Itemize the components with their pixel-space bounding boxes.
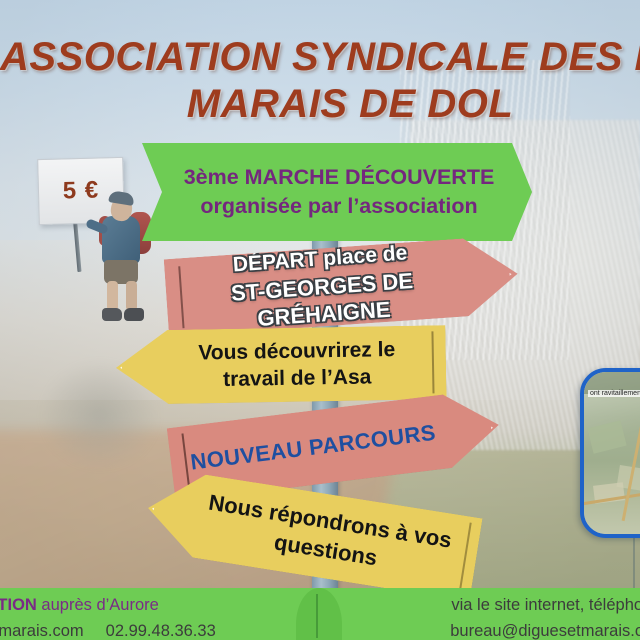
hiker-boot-right [124,308,144,321]
hiker-torso [102,216,140,264]
hiker-figure: 5 € [14,150,154,285]
hiker-leg-right [126,281,137,311]
green-banner-line-1: 3ème MARCHE DÉCOUVERTE [184,163,495,192]
footer-contact-name: auprès d’Aurore [37,596,159,614]
map-callout-label: ont ravitaillement [588,390,640,397]
decouvrirez-sign-text: Vous découvrirez le travail de l’Asa [152,335,410,394]
green-banner: 3ème MARCHE DÉCOUVERTE organisée par l’a… [142,143,532,241]
title-line-2: MARAIS DE DOL [0,81,640,128]
decouvrirez-sign-line-2: travail de l’Asa [199,363,396,394]
route-map-inset[interactable]: ont ravitaillement ★ [580,368,640,538]
footer-right-line-1: via le site internet, téléphone, [326,593,640,619]
footer-left-line-1: CRIPTION auprès d’Aurore [0,593,288,619]
footer-website[interactable]: uesetmarais.com [0,622,84,640]
price-amount: 5 € [62,177,99,206]
nouveau-parcours-sign-edge-line [181,433,190,493]
footer-email[interactable]: bureau@diguesetmarais.com [326,619,640,640]
poster-title: ASSOCIATION SYNDICALE DES DIG MARAIS DE … [0,34,640,128]
title-line-1: ASSOCIATION SYNDICALE DES DIG [0,35,640,79]
footer-phone[interactable]: 02.99.48.36.33 [106,622,216,640]
green-banner-line-2: organisée par l’association [184,192,495,221]
poster-canvas: ASSOCIATION SYNDICALE DES DIG MARAIS DE … [0,0,640,640]
decouvrirez-sign-line-1: Vous découvrirez le [198,336,395,367]
hiker-leg-left [107,281,118,311]
footer-leaf-vein-icon [316,594,318,638]
nouveau-parcours-sign-text: NOUVEAU PARCOURS [189,414,481,475]
footer-left-line-2: uesetmarais.com02.99.48.36.33 [0,619,288,640]
hiker-boot-left [102,308,122,321]
decouvrirez-sign-edge-line [431,331,434,393]
footer-right-block: via le site internet, téléphone, bureau@… [326,593,640,640]
decouvrirez-sign: Vous découvrirez le travail de l’Asa [115,325,446,405]
green-banner-text: 3ème MARCHE DÉCOUVERTE organisée par l’a… [170,163,505,221]
footer-bar: CRIPTION auprès d’Aurore uesetmarais.com… [0,588,640,640]
footer-inscription-label: CRIPTION [0,596,37,614]
footer-left-block: CRIPTION auprès d’Aurore uesetmarais.com… [0,593,288,640]
